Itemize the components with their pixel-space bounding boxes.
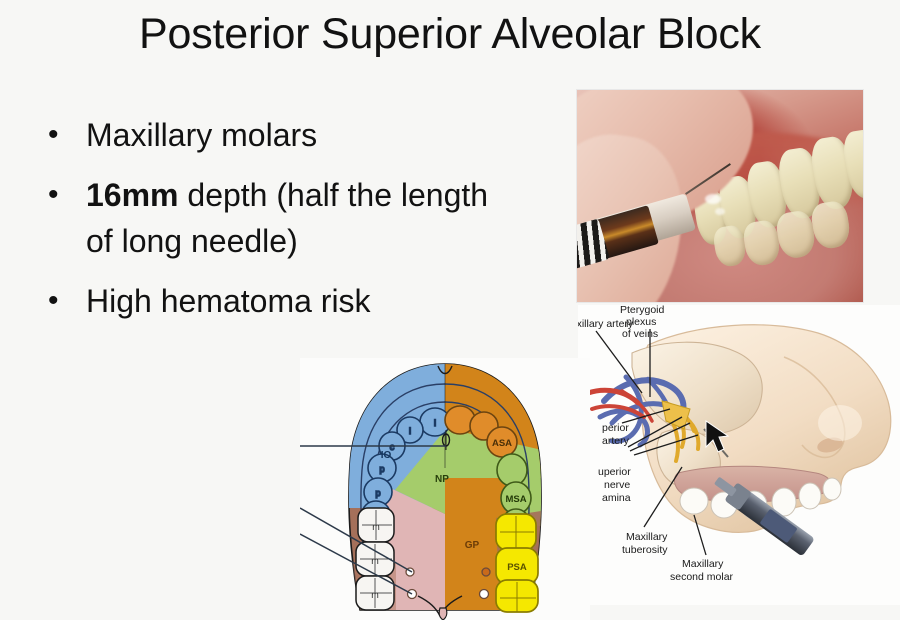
label-psa-artery-line2: artery — [602, 435, 630, 447]
bullet-marker: • — [48, 112, 59, 158]
bullet-marker: • — [48, 278, 59, 324]
clinical-photo — [576, 89, 864, 303]
label-psa-artery-line1: perior — [602, 422, 629, 434]
zone-label-gp: GP — [465, 540, 480, 551]
slide-root: Posterior Superior Alveolar Block • Maxi… — [0, 0, 900, 620]
anatomy-illustration: Pterygoid plexus of veins Maxillary arte… — [578, 305, 900, 605]
page-title: Posterior Superior Alveolar Block — [0, 8, 900, 60]
label-maxillary-tuberosity-line1: Maxillary — [626, 531, 668, 543]
svg-text:p: p — [379, 464, 384, 474]
bullet-text: Maxillary molars — [86, 117, 317, 153]
zone-label-np: NP — [435, 474, 449, 485]
bullet-emphasis: 16mm — [86, 177, 179, 213]
maxillary-arch-diagram: i i c p p m m m m — [300, 358, 590, 620]
label-maxillary-second-molar-line2: second molar — [670, 571, 734, 583]
tooth-label-asa: ASA — [492, 438, 512, 449]
label-maxillary-tuberosity-line2: tuberosity — [622, 544, 668, 556]
label-psa-nerve-line2: nerve — [604, 479, 630, 491]
tissue-highlight — [705, 194, 721, 204]
svg-text:p: p — [375, 488, 380, 498]
label-pterygoid-plexus-line1b: Pterygoid — [620, 305, 665, 316]
zone-label-io: IO — [381, 450, 392, 461]
bullet-list: • Maxillary molars • 16mm depth (half th… — [34, 112, 504, 338]
label-maxillary-artery: Maxillary artery — [578, 318, 634, 330]
label-psa-nerve-line3: amina — [602, 492, 631, 504]
bullet-marker: • — [48, 172, 59, 218]
label-psa-nerve-line1: uperior — [598, 466, 631, 478]
list-item: • 16mm depth (half the length of long ne… — [34, 172, 504, 264]
label-maxillary-second-molar-line1: Maxillary — [682, 558, 724, 570]
svg-text:i: i — [409, 426, 411, 436]
tooth-label-msa: MSA — [505, 494, 526, 505]
bullet-text: High hematoma risk — [86, 283, 371, 319]
list-item: • Maxillary molars — [34, 112, 504, 158]
svg-text:i: i — [434, 418, 436, 428]
tissue-highlight — [715, 208, 725, 215]
list-item: • High hematoma risk — [34, 278, 504, 324]
tooth-label-psa: PSA — [507, 562, 527, 573]
uvula — [439, 608, 447, 620]
